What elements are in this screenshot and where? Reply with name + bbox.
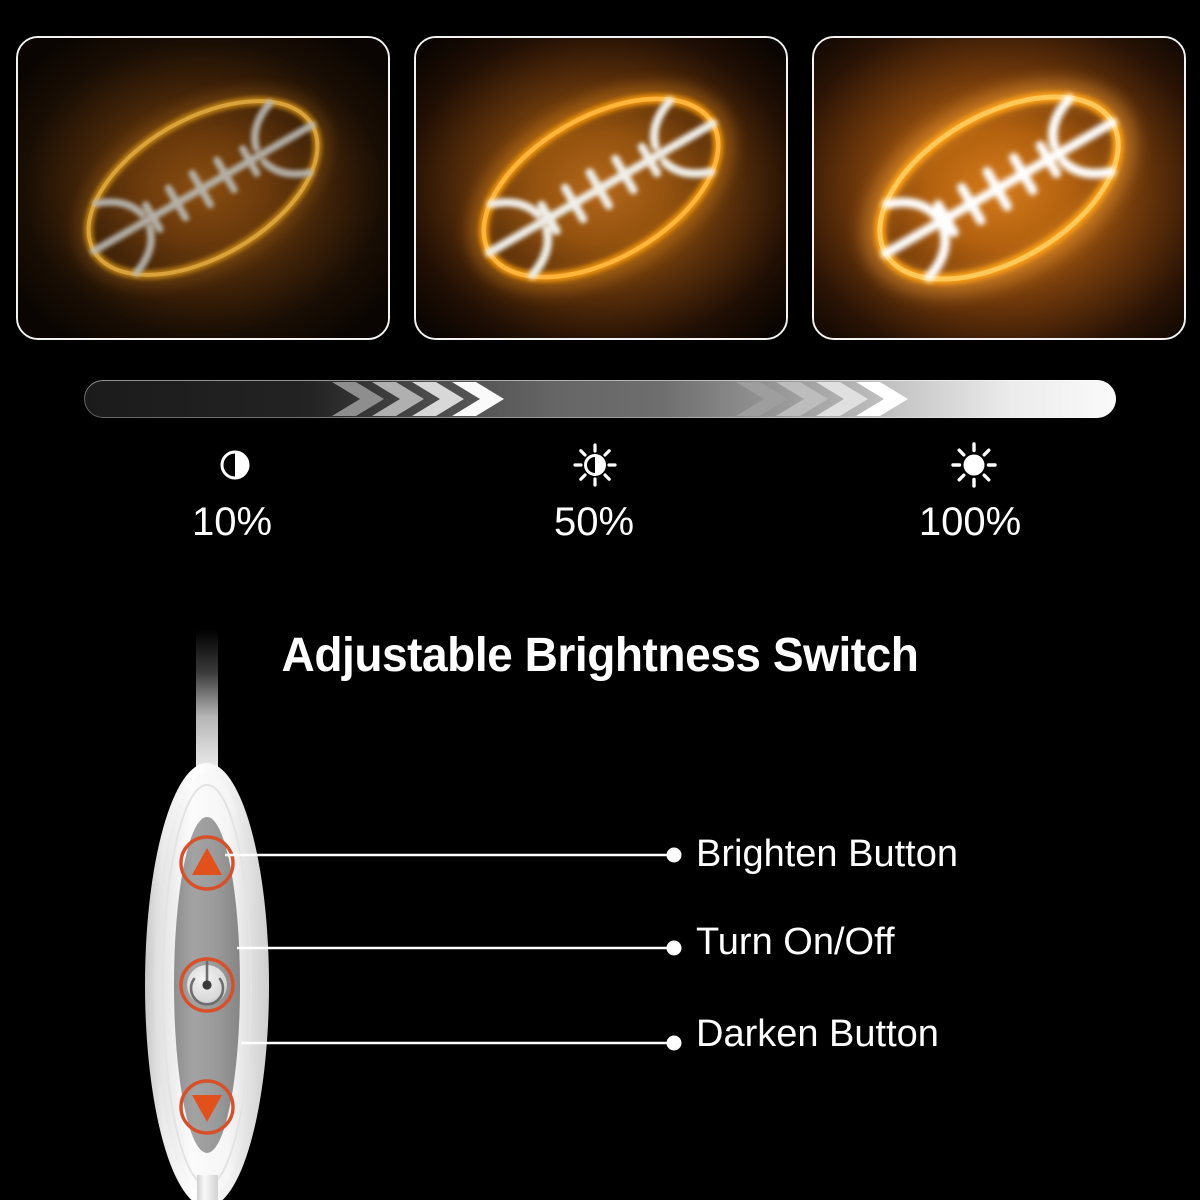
infographic-canvas: 10% 50% 100% Adjustable Brightness Switc…: [0, 0, 1200, 1200]
callout-leader-lines: [0, 0, 1200, 1200]
callout-label-brighten: Brighten Button: [696, 833, 958, 876]
callout-label-power: Turn On/Off: [696, 921, 895, 964]
callout-label-darken: Darken Button: [696, 1013, 939, 1056]
